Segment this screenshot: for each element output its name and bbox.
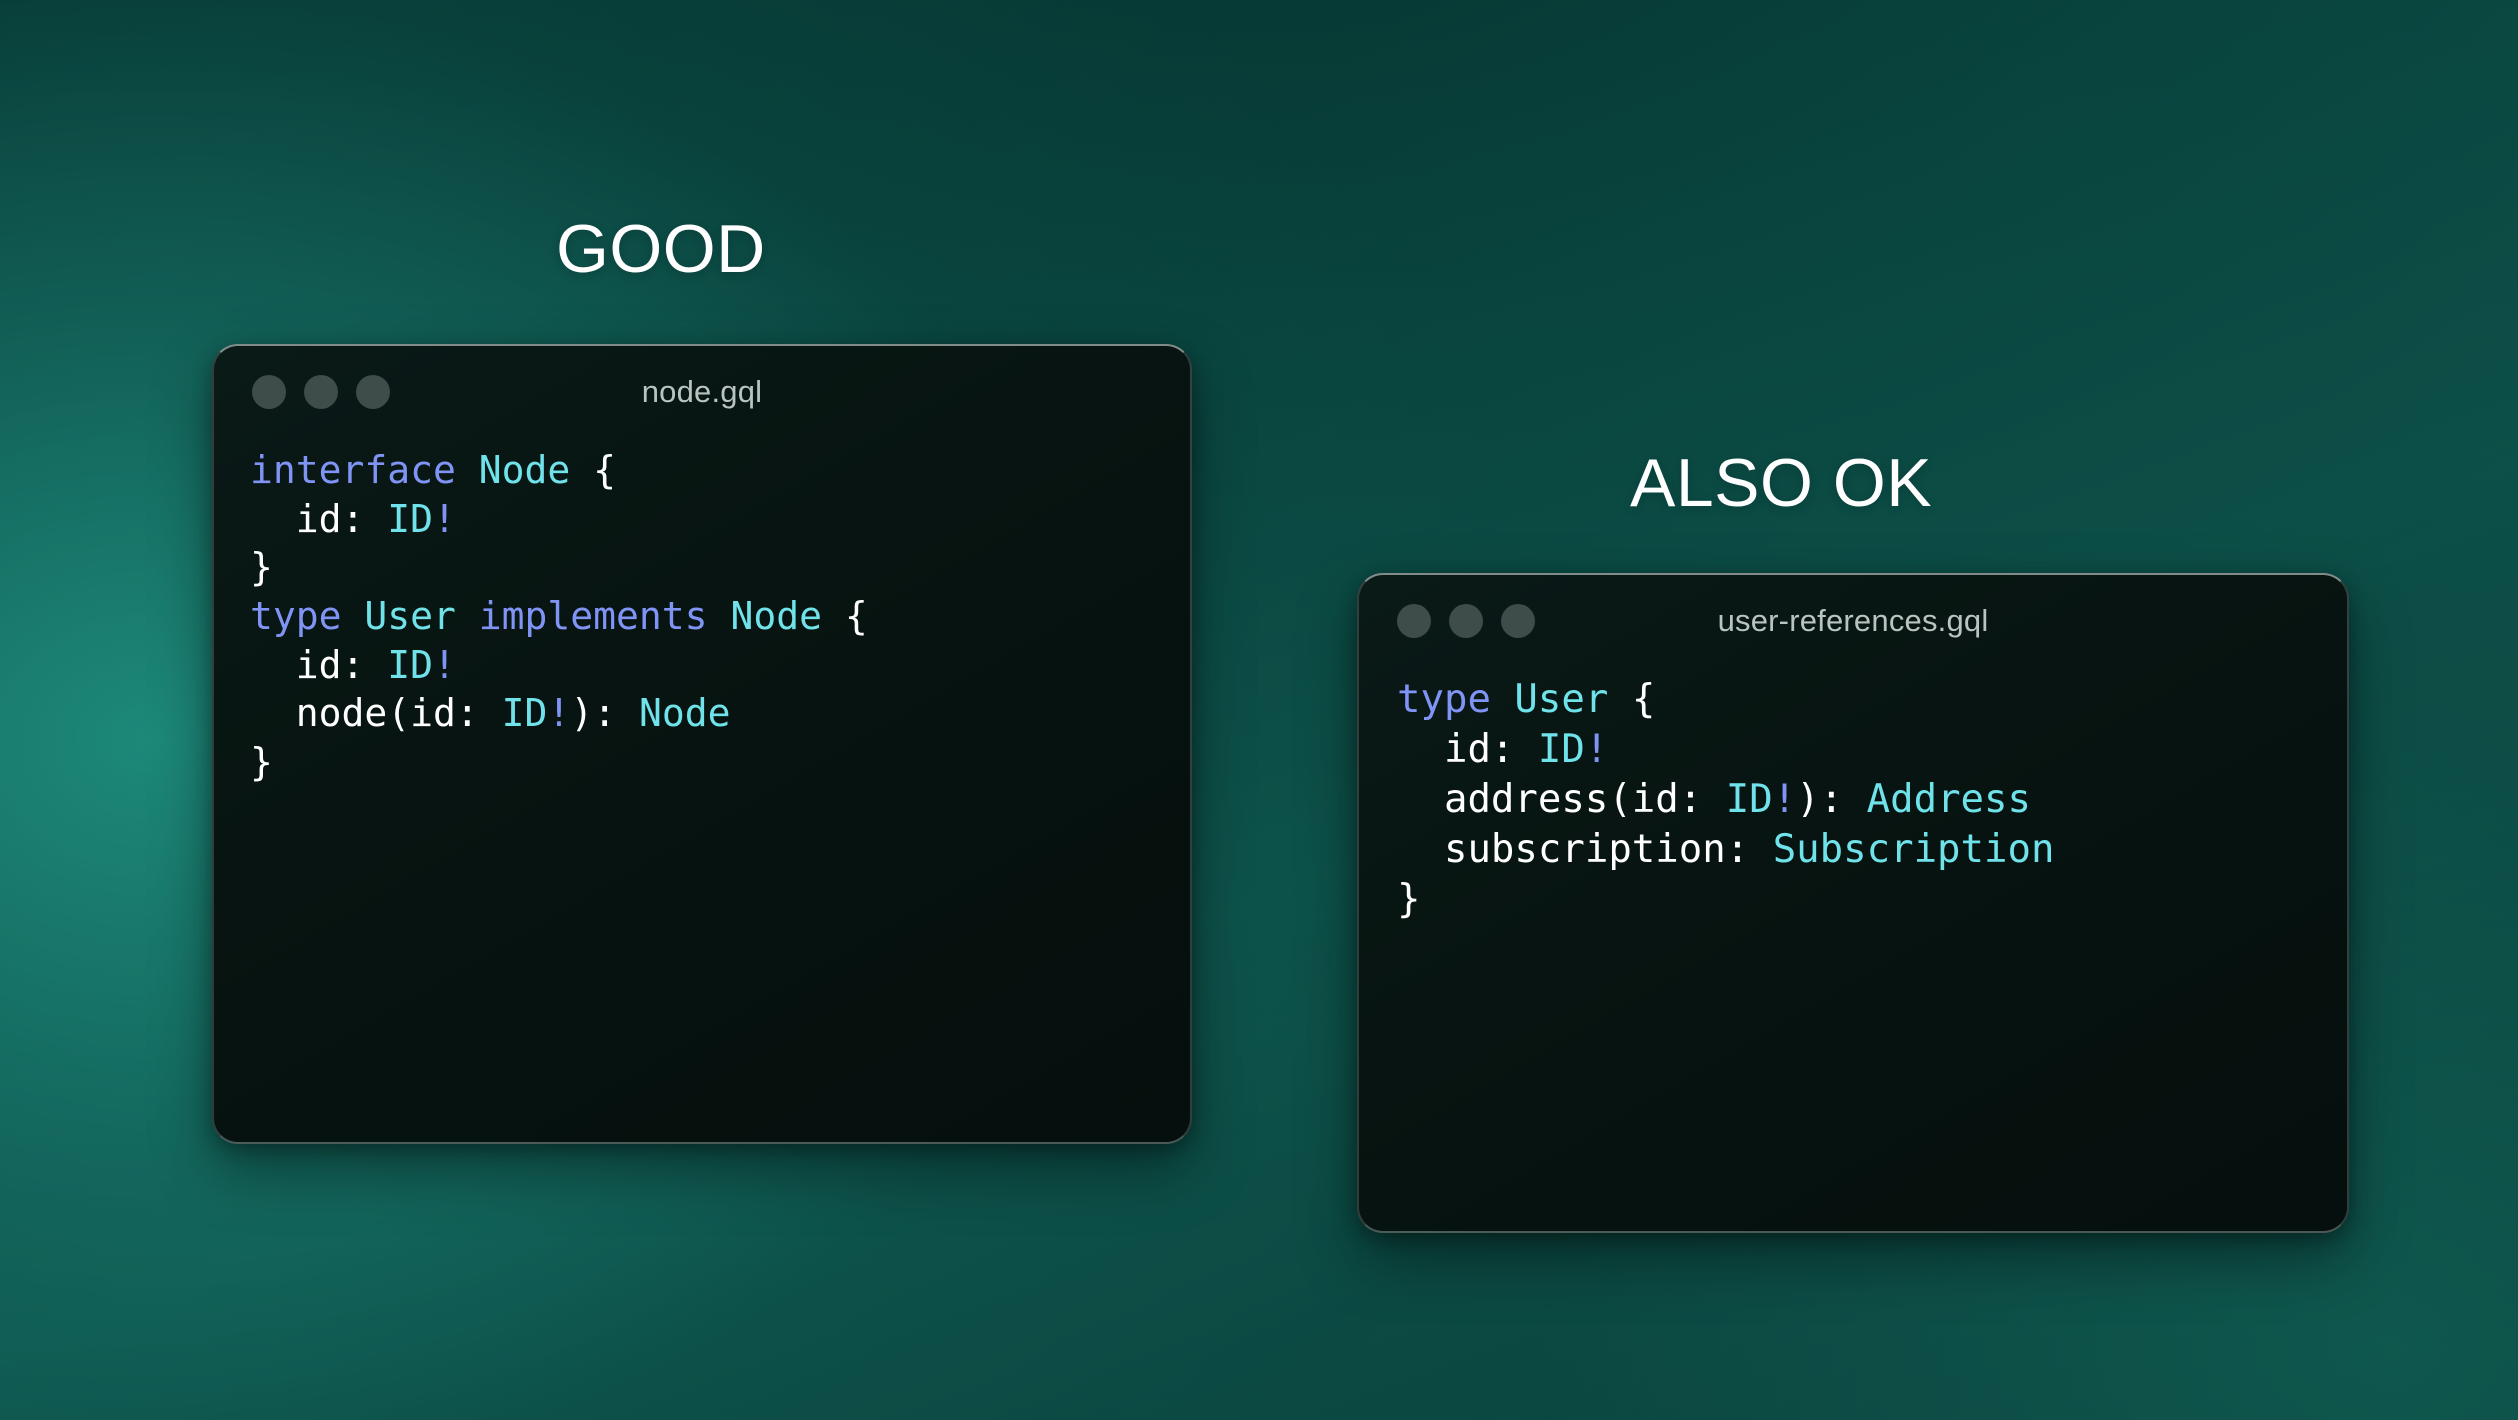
titlebar-also-ok: user-references.gql — [1359, 575, 2347, 667]
code-token-punctuation: } — [250, 740, 273, 784]
window-controls-good — [252, 375, 390, 409]
code-token-punctuation: { — [593, 448, 616, 492]
minimize-dot-icon[interactable] — [1449, 604, 1483, 638]
code-token-keyword: interface — [250, 448, 479, 492]
code-token-type: ID — [502, 691, 548, 735]
code-token-punctuation: subscription: — [1397, 827, 1773, 872]
code-token-bang: ! — [433, 497, 456, 541]
code-token-punctuation: id: — [250, 497, 387, 541]
code-token-bang: ! — [433, 643, 456, 687]
code-token-type: ID — [1538, 727, 1585, 772]
code-token-keyword: type — [250, 594, 364, 638]
close-dot-icon[interactable] — [252, 375, 286, 409]
code-token-type: User — [364, 594, 478, 638]
code-line: node(id: ID!): Node — [250, 689, 1190, 738]
code-token-punctuation: id: — [250, 643, 387, 687]
code-window-good: node.gql interface Node { id: ID!}type U… — [212, 344, 1192, 1144]
code-token-keyword: type — [1397, 677, 1514, 722]
maximize-dot-icon[interactable] — [1501, 604, 1535, 638]
code-token-punctuation: { — [845, 594, 868, 638]
code-block-good: interface Node { id: ID!}type User imple… — [214, 438, 1190, 786]
code-token-keyword: implements — [479, 594, 731, 638]
code-line: address(id: ID!): Address — [1397, 775, 2347, 825]
code-line: id: ID! — [250, 495, 1190, 544]
code-block-also-ok: type User { id: ID! address(id: ID!): Ad… — [1359, 667, 2347, 925]
code-token-punctuation: } — [250, 545, 273, 589]
code-token-type: User — [1514, 677, 1631, 722]
code-token-punctuation: { — [1632, 677, 1655, 722]
code-token-type: ID — [387, 497, 433, 541]
code-line: } — [250, 543, 1190, 592]
code-token-bang: ! — [547, 691, 570, 735]
code-token-type: Node — [730, 594, 844, 638]
code-token-bang: ! — [1773, 777, 1796, 822]
code-token-punctuation: address(id: — [1397, 777, 1726, 822]
code-line: } — [1397, 875, 2347, 925]
code-token-punctuation: } — [1397, 877, 1420, 922]
code-window-also-ok: user-references.gql type User { id: ID! … — [1357, 573, 2349, 1233]
minimize-dot-icon[interactable] — [304, 375, 338, 409]
heading-also-ok: ALSO OK — [1630, 449, 1932, 517]
close-dot-icon[interactable] — [1397, 604, 1431, 638]
code-token-punctuation: id: — [1397, 727, 1538, 772]
code-token-punctuation: ): — [570, 691, 639, 735]
code-line: type User { — [1397, 675, 2347, 725]
heading-good: GOOD — [556, 215, 766, 283]
code-line: type User implements Node { — [250, 592, 1190, 641]
code-line: subscription: Subscription — [1397, 825, 2347, 875]
code-token-type: Address — [1867, 777, 2031, 822]
code-token-type: Node — [639, 691, 731, 735]
code-line: interface Node { — [250, 446, 1190, 495]
code-line: id: ID! — [1397, 725, 2347, 775]
code-token-type: ID — [1726, 777, 1773, 822]
maximize-dot-icon[interactable] — [356, 375, 390, 409]
code-token-type: ID — [387, 643, 433, 687]
code-token-bang: ! — [1585, 727, 1608, 772]
window-controls-also-ok — [1397, 604, 1535, 638]
titlebar-good: node.gql — [214, 346, 1190, 438]
code-line: } — [250, 738, 1190, 787]
code-line: id: ID! — [250, 641, 1190, 690]
code-token-punctuation: node(id: — [250, 691, 502, 735]
slide-canvas: GOOD node.gql interface Node { id: ID!}t… — [0, 0, 2518, 1420]
code-token-type: Subscription — [1773, 827, 2055, 872]
code-token-type: Node — [479, 448, 593, 492]
code-token-punctuation: ): — [1796, 777, 1866, 822]
